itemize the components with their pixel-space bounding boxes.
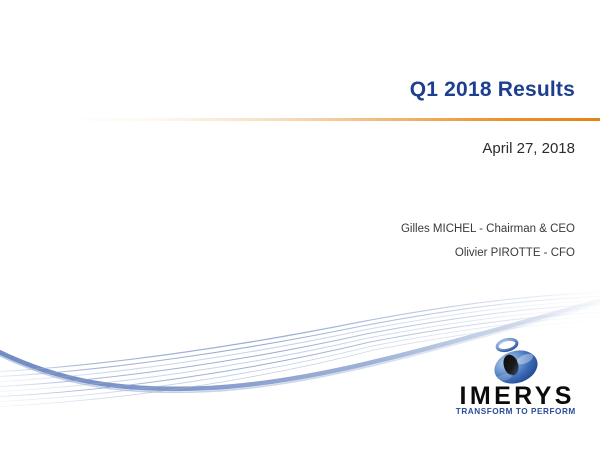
imerys-logo: IMERYS TRANSFORM TO PERFORM	[443, 336, 588, 428]
presenter-line: Gilles MICHEL - Chairman & CEO	[15, 218, 575, 242]
logo-tagline: TRANSFORM TO PERFORM	[443, 408, 588, 416]
presenter-line: Olivier PIROTTE - CFO	[15, 242, 575, 266]
title-block: Q1 2018 Results	[15, 78, 575, 102]
presentation-slide: Q1 2018 Results April 27, 2018 Gilles MI…	[0, 0, 600, 450]
date-block: April 27, 2018	[15, 140, 575, 157]
imerys-sphere-icon	[483, 336, 545, 388]
presentation-date: April 27, 2018	[15, 140, 575, 157]
page-title: Q1 2018 Results	[15, 78, 575, 102]
orange-gradient-rule-icon	[60, 118, 600, 121]
presenters-block: Gilles MICHEL - Chairman & CEO Olivier P…	[15, 218, 575, 265]
logo-wordmark: IMERYS	[443, 384, 588, 409]
